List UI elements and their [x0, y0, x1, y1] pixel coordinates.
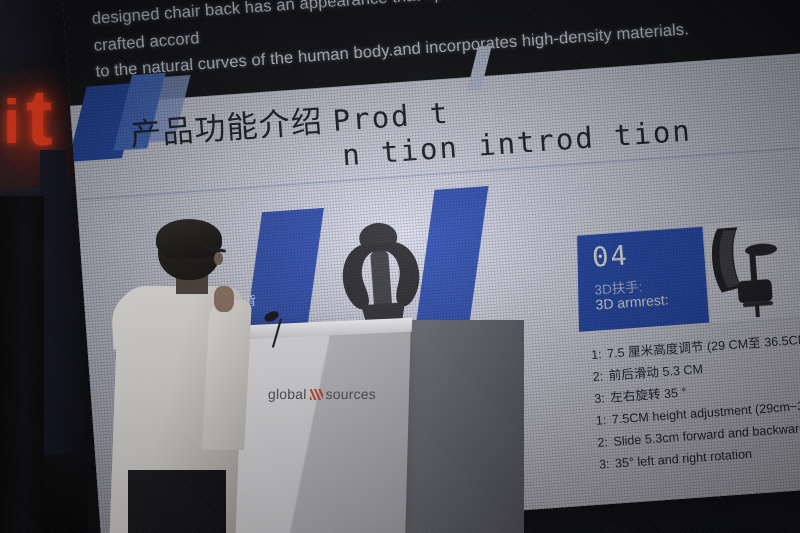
presenter-hand — [214, 286, 234, 312]
podium-side-panel — [404, 320, 524, 533]
feature-card-inner: 04 3D扶手: 3D armrest: — [575, 218, 800, 332]
neon-letter-i: i — [3, 92, 20, 154]
presenter-ear — [214, 252, 223, 265]
podium-logo: global sources — [268, 386, 376, 402]
slide-title-cn: 产品功能介绍 — [129, 104, 324, 153]
presenter-hair — [156, 219, 222, 259]
feature-list: 1:7.5 厘米高度调节 (29 CM至 36.5CM) 2:前后滑动 5.3 … — [590, 326, 800, 476]
photo-scene: i t designed chair back has an appearanc… — [0, 0, 800, 533]
presenter-legs — [128, 470, 226, 533]
neon-letter-t: t — [26, 78, 53, 158]
list-item-number: 3: — [594, 388, 612, 411]
foreground-dark-column — [0, 196, 44, 533]
podium-logo-text-1: global — [268, 386, 307, 402]
podium — [225, 330, 410, 533]
list-item-text: 前后滑动 5.3 CM — [608, 362, 703, 383]
chair-photo — [702, 216, 800, 325]
list-item-number: 1: — [590, 344, 608, 367]
list-item-number: 2: — [592, 366, 610, 389]
list-item-text: 左右旋转 35 ° — [610, 385, 687, 404]
list-item-number: 2: — [597, 431, 615, 454]
list-item-number: 1: — [595, 410, 613, 433]
feature-card-number: 04 — [591, 240, 630, 274]
diamond-hatch-icon — [309, 389, 322, 400]
list-item-number: 3: — [598, 453, 616, 476]
feature-card: 04 3D扶手: 3D armrest: — [577, 218, 800, 332]
podium-logo-text-2: sources — [325, 386, 376, 402]
office-chair-photo-icon — [703, 217, 800, 324]
presenter-arm — [202, 300, 252, 450]
